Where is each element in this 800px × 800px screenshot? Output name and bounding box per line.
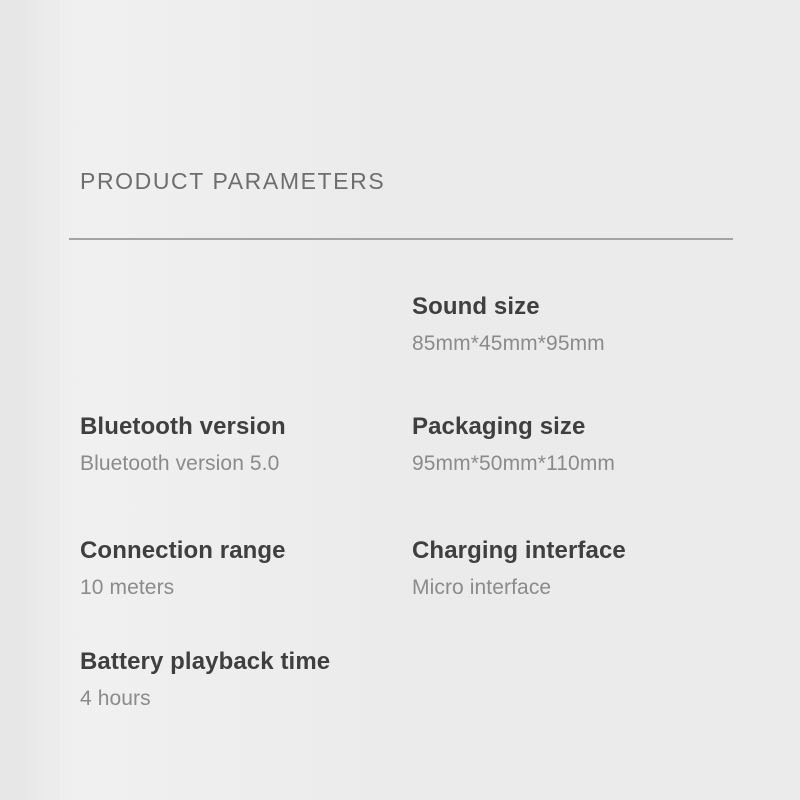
spec-label: Packaging size <box>412 411 615 443</box>
spec-item-battery-playback-time: Battery playback time 4 hours <box>80 646 330 714</box>
spec-label: Connection range <box>80 535 286 567</box>
spec-item-packaging-size: Packaging size 95mm*50mm*110mm <box>412 411 615 479</box>
spec-value: 85mm*45mm*95mm <box>412 329 605 359</box>
spec-item-connection-range: Connection range 10 meters <box>80 535 286 603</box>
spec-label: Charging interface <box>412 535 626 567</box>
spec-value: 95mm*50mm*110mm <box>412 449 615 479</box>
spec-item-sound-size: Sound size 85mm*45mm*95mm <box>412 291 605 359</box>
spec-label: Battery playback time <box>80 646 330 678</box>
spec-label: Sound size <box>412 291 605 323</box>
spec-value: 10 meters <box>80 573 286 603</box>
spec-value: Bluetooth version 5.0 <box>80 449 286 479</box>
spec-label: Bluetooth version <box>80 411 286 443</box>
spec-value: Micro interface <box>412 573 626 603</box>
spec-item-bluetooth-version: Bluetooth version Bluetooth version 5.0 <box>80 411 286 479</box>
spec-value: 4 hours <box>80 684 330 714</box>
product-parameters-page: PRODUCT PARAMETERS Sound size 85mm*45mm*… <box>0 0 800 800</box>
spec-grid: Sound size 85mm*45mm*95mm Packaging size… <box>0 0 800 800</box>
spec-item-charging-interface: Charging interface Micro interface <box>412 535 626 603</box>
